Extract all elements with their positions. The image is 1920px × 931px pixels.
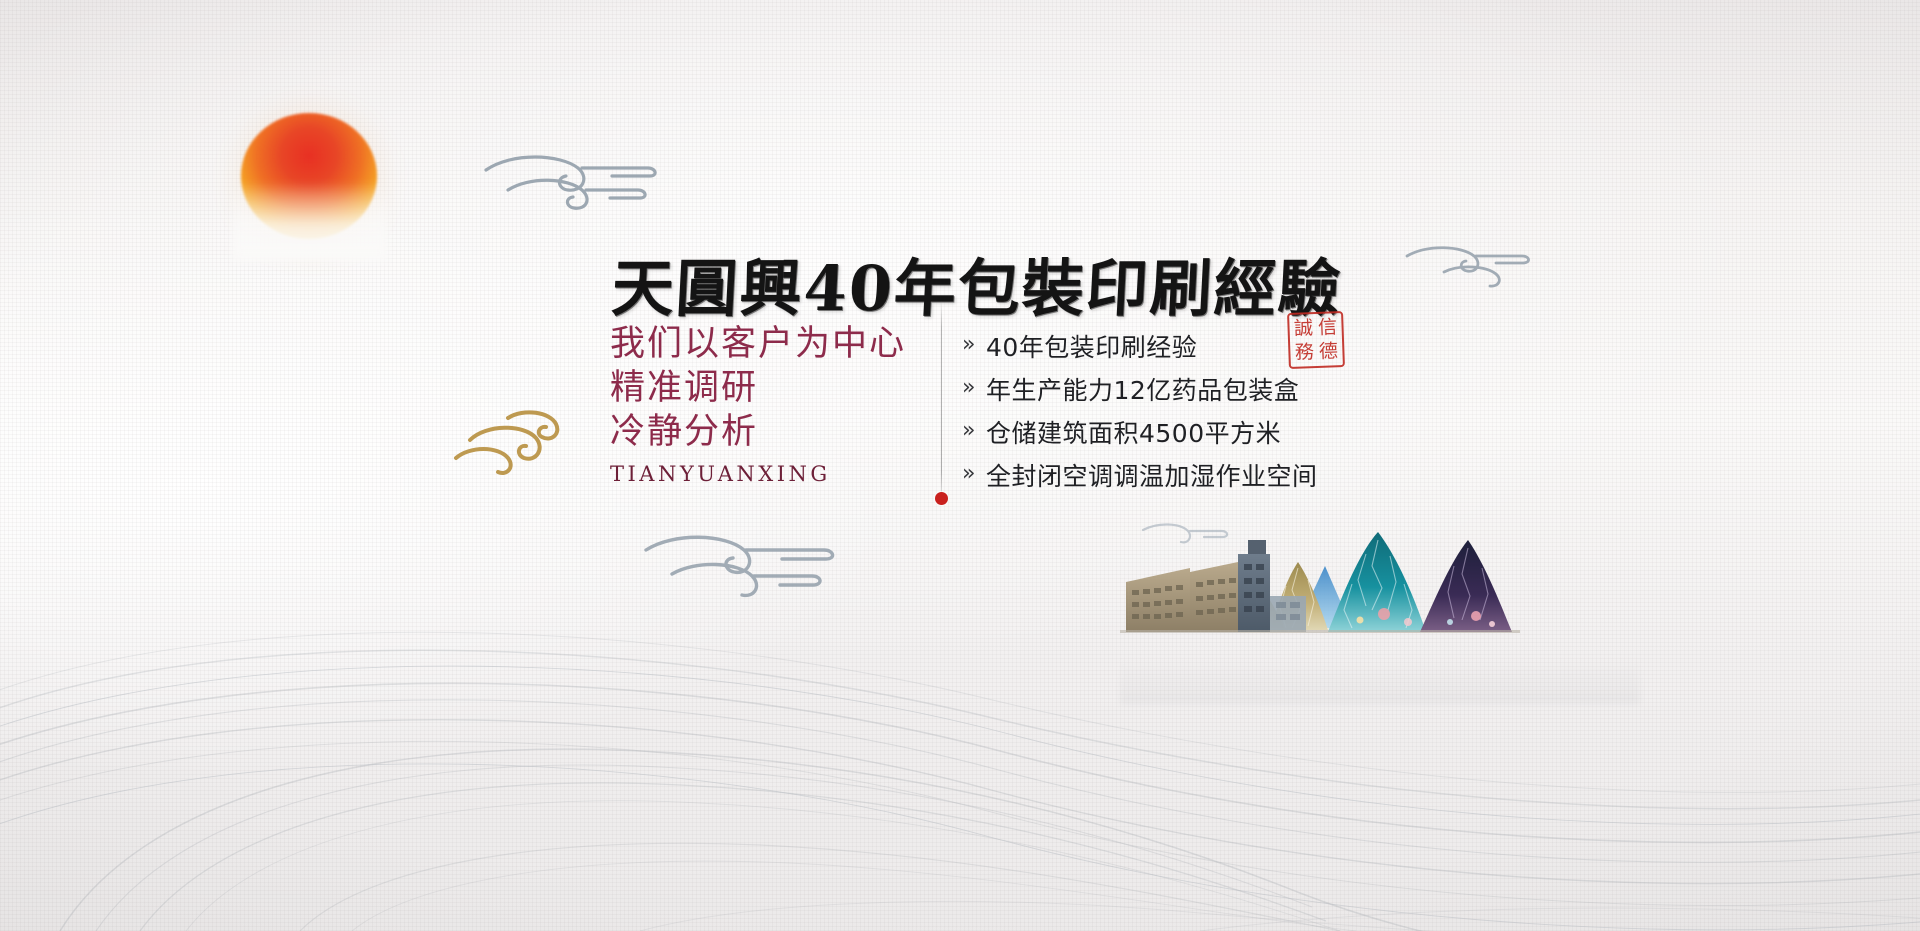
seal-char-2: 信 [1318, 318, 1338, 338]
slogan-line-2: 精准调研 [610, 366, 940, 410]
red-seal-stamp-icon: 誠 信 務 德 [1287, 311, 1345, 369]
list-item: » 40年包装印刷经验 [962, 327, 1318, 365]
feature-list: » 40年包装印刷经验 » 年生产能力12亿药品包装盒 » 仓储建筑面积4500… [962, 327, 1318, 499]
list-item-label: 年生产能力12亿药品包装盒 [986, 371, 1299, 407]
list-item-label: 40年包装印刷经验 [986, 328, 1197, 364]
double-chevron-right-icon: » [962, 463, 986, 485]
seal-char-4: 德 [1319, 342, 1339, 362]
chinese-cloud-motif-icon [1404, 242, 1534, 290]
chinese-cloud-motif-icon [482, 150, 662, 222]
page-title: 天圓興40年包裝印刷經驗 [610, 238, 1345, 328]
slogan-english: TIANYUANXING [610, 462, 940, 486]
list-item-label: 全封闭空调调温加湿作业空间 [986, 457, 1318, 493]
sun-fade-overlay [232, 182, 388, 262]
factory-and-mountains-illustration [1120, 510, 1640, 670]
chinese-cloud-motif-icon [642, 528, 842, 608]
double-chevron-right-icon: » [962, 377, 986, 399]
list-item: » 全封闭空调调温加湿作业空间 [962, 456, 1318, 494]
seal-char-1: 誠 [1294, 319, 1314, 339]
double-chevron-right-icon: » [962, 420, 986, 442]
banner-stage: 天圓興40年包裝印刷經驗 我们以客户为中心 精准调研 冷静分析 TIANYUAN… [0, 0, 1920, 931]
list-item: » 年生产能力12亿药品包装盒 [962, 370, 1318, 408]
slogan-line-1: 我们以客户为中心 [610, 322, 940, 366]
slogan-line-3: 冷静分析 [610, 410, 940, 454]
list-item: » 仓储建筑面积4500平方米 [962, 413, 1318, 451]
list-item-label: 仓储建筑面积4500平方米 [986, 414, 1281, 450]
accent-dot-icon [935, 492, 948, 505]
seal-char-3: 務 [1295, 343, 1315, 363]
vertical-divider [941, 300, 942, 500]
chinese-cloud-motif-icon [452, 406, 602, 476]
double-chevron-right-icon: » [962, 334, 986, 356]
slogan-block: 我们以客户为中心 精准调研 冷静分析 TIANYUANXING [610, 322, 940, 486]
